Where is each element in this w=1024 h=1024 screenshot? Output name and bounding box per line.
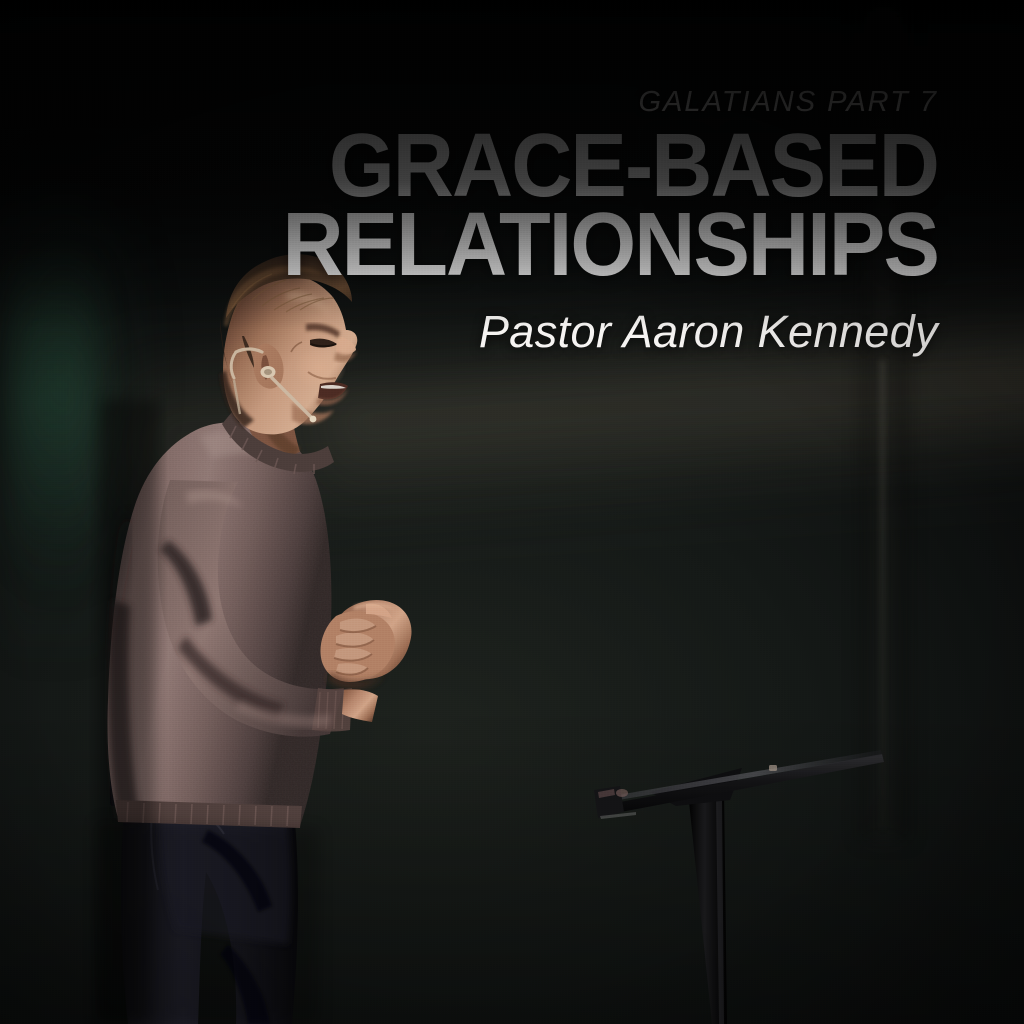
sermon-title-graphic: GALATIANS PART 7 GRACE-BASED RELATIONSHI… bbox=[0, 0, 1024, 1024]
film-grain bbox=[0, 0, 1024, 1024]
